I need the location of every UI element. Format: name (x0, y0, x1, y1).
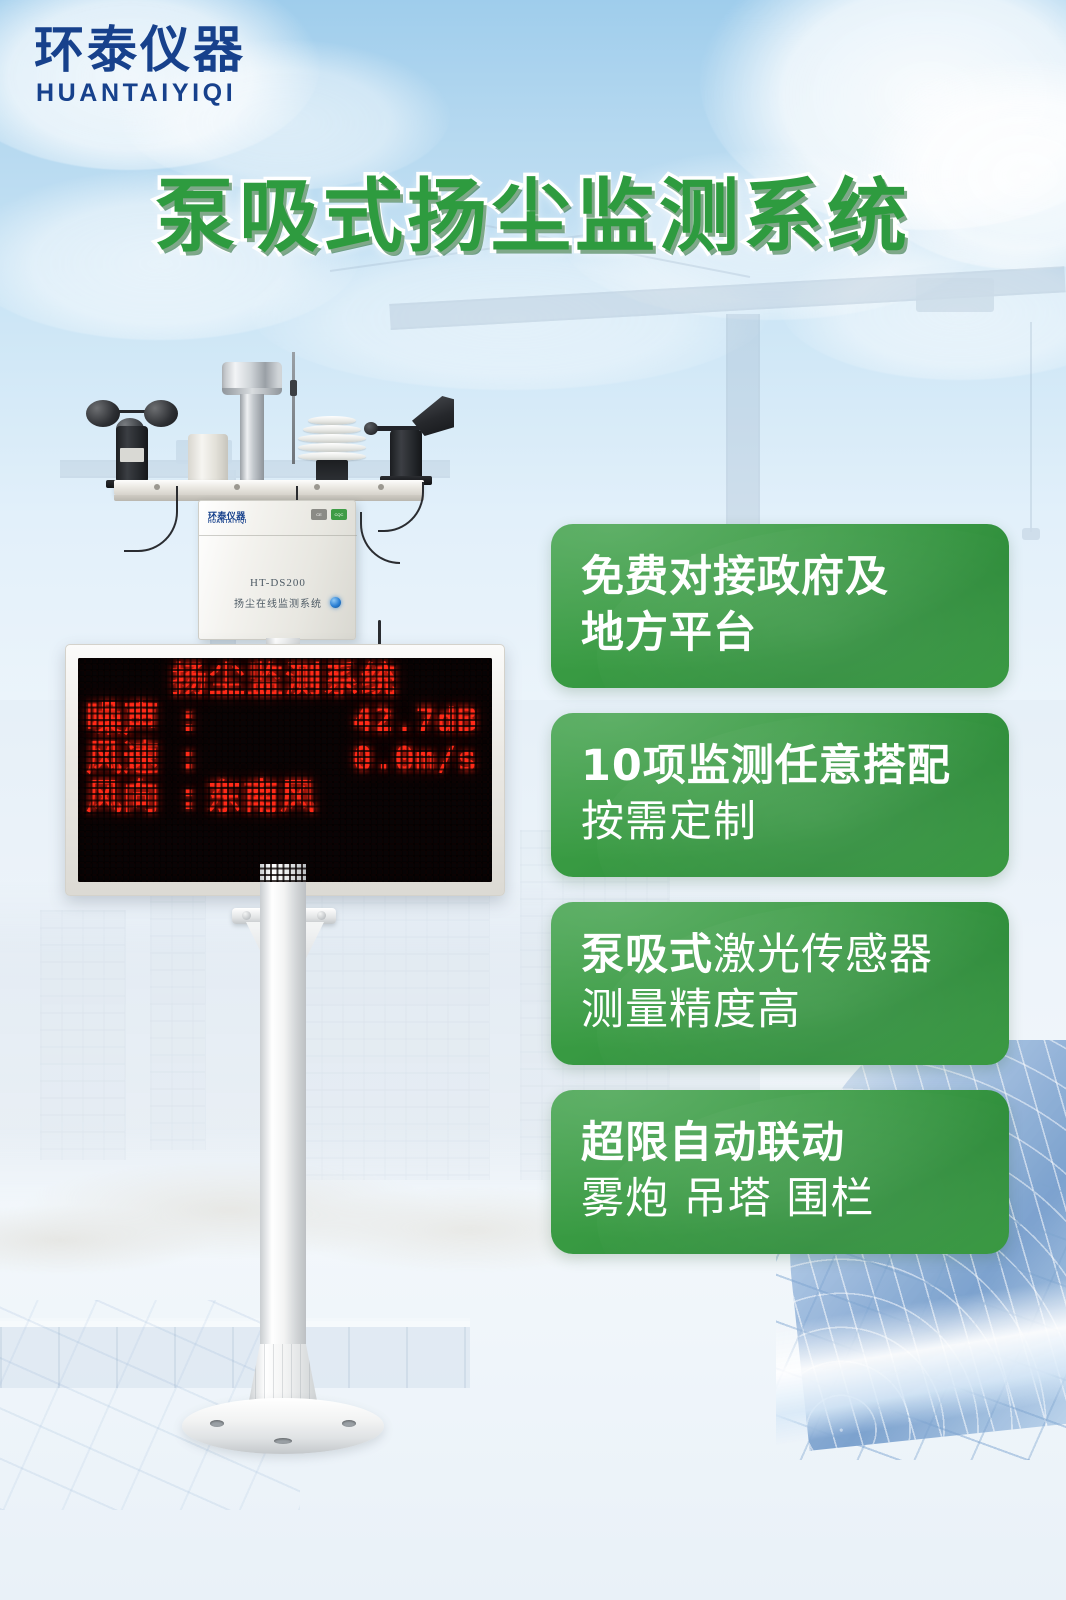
led-colon: : (178, 701, 200, 738)
collar-nut (242, 911, 251, 920)
crane-hoist-cable (1030, 322, 1032, 532)
feature-line-1-regular: 激光传感器 (713, 930, 933, 980)
brand-logo: 环泰仪器 HUANTAIYIQI (34, 24, 246, 108)
led-row-winddirection: 风向 : 东南风 (86, 779, 484, 816)
shield-plate (303, 425, 361, 434)
feature-line-2: 测量精度高 (581, 983, 1009, 1039)
page-title: 泵吸式扬尘监测系统 (0, 152, 1066, 268)
arm-bolt (234, 484, 240, 490)
controller-brand-en: HUANTAIYIQI (208, 519, 247, 525)
led-readout: 扬尘监测系统 噪声 : 42.7dB 风速 : 0.0m/s 风向 : (78, 658, 492, 816)
feature-line-1: 免费对接政府及 (581, 550, 1009, 606)
led-display-panel: 扬尘监测系统 噪声 : 42.7dB 风速 : 0.0m/s 风向 : (65, 644, 505, 896)
antenna-tip (290, 380, 297, 396)
feature-card-laser-sensor[interactable]: 泵吸式激光传感器 测量精度高 (551, 902, 1009, 1066)
collar-nut (317, 911, 326, 920)
led-value-noise: 42.7dB (200, 703, 484, 737)
anchor-bolt-hole (274, 1438, 292, 1444)
anchor-bolt-hole (342, 1420, 356, 1427)
feature-line-1: 10项监测任意搭配 (581, 739, 1009, 795)
anchor-bolt-hole (210, 1420, 224, 1427)
ce-badge: CE (311, 509, 327, 520)
feature-card-ten-items[interactable]: 10项监测任意搭配 按需定制 (551, 713, 1009, 877)
feature-card-list: 免费对接政府及 地方平台 10项监测任意搭配 按需定制 泵吸式激光传感器 测量精… (551, 524, 1009, 1279)
crane-cab (916, 278, 994, 312)
shield-plate (298, 434, 366, 443)
feature-line-1: 超限自动联动 (581, 1116, 1009, 1172)
feature-line-2: 雾炮 吊塔 围栏 (581, 1172, 1009, 1228)
pole-base-plate (182, 1398, 384, 1454)
certification-badges: CE CQC (311, 509, 347, 520)
feature-line-1: 泵吸式激光传感器 (581, 928, 1009, 984)
led-row-noise: 噪声 : 42.7dB (86, 701, 484, 738)
led-screen: 扬尘监测系统 噪声 : 42.7dB 风速 : 0.0m/s 风向 : (78, 658, 492, 882)
pump-cylinder (188, 434, 228, 482)
pole-main-section (260, 864, 306, 1344)
inlet-head (222, 362, 282, 394)
wind-direction-sensor-icon (360, 396, 456, 484)
feature-line-1-bold: 泵吸式 (581, 930, 713, 980)
dust-monitoring-station: 环泰仪器 HUANTAIYIQI CE CQC HT-DS200 扬尘在线监测系… (60, 352, 530, 1582)
led-value-winddirection: 东南风 (200, 779, 484, 816)
shield-plate (298, 443, 366, 452)
brand-name-en: HUANTAIYIQI (36, 79, 246, 108)
led-value-windspeed: 0.0m/s (200, 742, 484, 776)
cqc-badge: CQC (331, 509, 347, 520)
sensor-cable (360, 512, 400, 564)
vane-body (390, 430, 422, 482)
led-colon: : (178, 779, 200, 816)
anemometer-cup (144, 400, 178, 427)
led-colon: : (178, 740, 200, 777)
vane-counterweight (364, 422, 378, 435)
controller-model: HT-DS200 (199, 577, 357, 589)
gprs-antenna-icon (292, 352, 295, 464)
feature-card-govt-platform[interactable]: 免费对接政府及 地方平台 (551, 524, 1009, 688)
led-heading: 扬尘监测系统 (86, 663, 484, 699)
led-key-winddirection: 风向 (86, 779, 178, 816)
feature-line-2: 按需定制 (581, 795, 1009, 851)
anemometer-body (116, 426, 148, 482)
led-key-noise: 噪声 (86, 701, 178, 738)
shield-plate (308, 416, 356, 425)
inlet-tube (240, 394, 264, 494)
sensor-cable (124, 486, 178, 552)
controller-box: 环泰仪器 HUANTAIYIQI CE CQC HT-DS200 扬尘在线监测系… (198, 500, 356, 640)
anemometer-label (120, 448, 144, 462)
feature-line-2: 地方平台 (581, 606, 1009, 662)
crane-hook (1022, 528, 1040, 540)
anemometer-cup (86, 400, 120, 427)
feature-card-auto-linkage[interactable]: 超限自动联动 雾炮 吊塔 围栏 (551, 1090, 1009, 1254)
led-key-windspeed: 风速 (86, 740, 178, 777)
led-row-windspeed: 风速 : 0.0m/s (86, 740, 484, 777)
panel-seam (199, 535, 357, 536)
brand-name-cn: 环泰仪器 (34, 24, 246, 77)
power-led-icon (330, 597, 341, 608)
wind-speed-sensor-icon (86, 398, 182, 482)
poster-stage: 环泰仪器 HUANTAIYIQI 泵吸式扬尘监测系统 (0, 0, 1066, 1600)
